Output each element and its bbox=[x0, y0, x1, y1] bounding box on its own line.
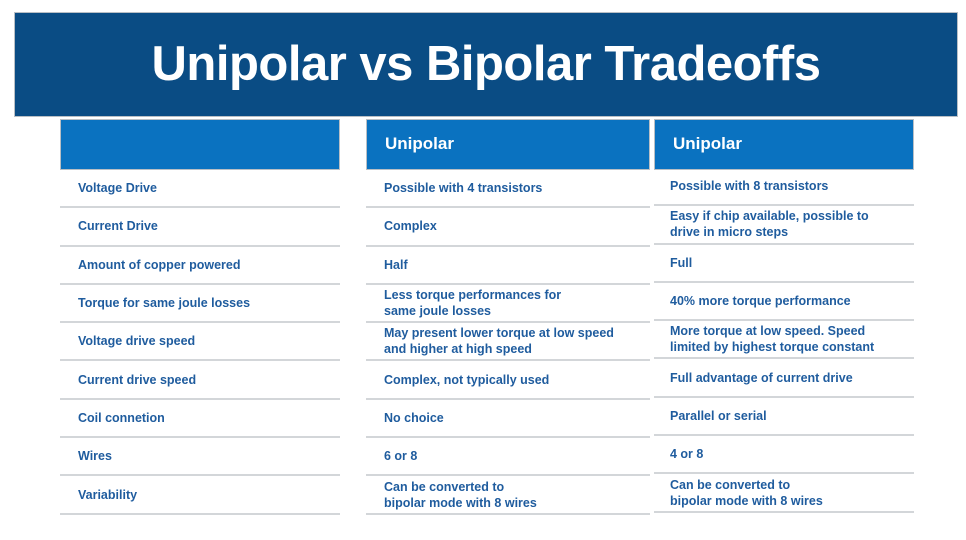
table-row: Voltage Drive bbox=[60, 170, 340, 208]
table-column-unipolar-1: Unipolar Possible with 4 transistors Com… bbox=[366, 119, 650, 515]
slide-title-banner: Unipolar vs Bipolar Tradeoffs bbox=[14, 12, 958, 117]
table-row: 4 or 8 bbox=[654, 436, 914, 474]
cell-text: Can be converted to bipolar mode with 8 … bbox=[382, 479, 537, 511]
cell-text: Current Drive bbox=[76, 218, 158, 234]
cell-text: Less torque performances for same joule … bbox=[382, 287, 561, 319]
table-row: Complex bbox=[366, 208, 650, 246]
table-row: Torque for same joule losses bbox=[60, 285, 340, 323]
column-header-label: Unipolar bbox=[673, 135, 742, 154]
cell-text: No choice bbox=[382, 410, 444, 426]
cell-text: 40% more torque performance bbox=[670, 293, 851, 309]
cell-text: Full advantage of current drive bbox=[670, 370, 853, 386]
table-row: Variability bbox=[60, 476, 340, 514]
cell-text: Parallel or serial bbox=[670, 408, 767, 424]
cell-text: Torque for same joule losses bbox=[76, 295, 250, 311]
table-row: Parallel or serial bbox=[654, 398, 914, 436]
table-row: Complex, not typically used bbox=[366, 361, 650, 399]
table-column-unipolar-2: Unipolar Possible with 8 transistors Eas… bbox=[654, 119, 914, 513]
table-row: Current Drive bbox=[60, 208, 340, 246]
cell-text: Possible with 8 transistors bbox=[670, 178, 828, 194]
table-row: 6 or 8 bbox=[366, 438, 650, 476]
cell-text: 6 or 8 bbox=[382, 448, 417, 464]
cell-text: Wires bbox=[76, 448, 112, 464]
cell-text: Can be converted to bipolar mode with 8 … bbox=[670, 477, 823, 509]
column-rows-unipolar-2: Possible with 8 transistors Easy if chip… bbox=[654, 168, 914, 513]
table-row: Less torque performances for same joule … bbox=[366, 285, 650, 323]
cell-text: More torque at low speed. Speed limited … bbox=[670, 323, 874, 355]
cell-text: 4 or 8 bbox=[670, 446, 703, 462]
column-header-unipolar-2: Unipolar bbox=[654, 119, 914, 170]
column-header-criteria bbox=[60, 119, 340, 170]
table-row: Coil connetion bbox=[60, 400, 340, 438]
cell-text: Amount of copper powered bbox=[76, 257, 241, 273]
table-row: Current drive speed bbox=[60, 361, 340, 399]
cell-text: Easy if chip available, possible to driv… bbox=[670, 208, 869, 240]
cell-text: Complex bbox=[382, 218, 437, 234]
column-rows-unipolar-1: Possible with 4 transistors Complex Half… bbox=[366, 170, 650, 515]
table-row: Possible with 4 transistors bbox=[366, 170, 650, 208]
table-row: Can be converted to bipolar mode with 8 … bbox=[366, 476, 650, 514]
column-header-unipolar-1: Unipolar bbox=[366, 119, 650, 170]
table-column-criteria: Voltage Drive Current Drive Amount of co… bbox=[60, 119, 340, 515]
table-row: Full advantage of current drive bbox=[654, 359, 914, 397]
page-title: Unipolar vs Bipolar Tradeoffs bbox=[152, 40, 821, 89]
cell-text: Variability bbox=[76, 487, 137, 503]
column-header-label: Unipolar bbox=[385, 135, 454, 154]
cell-text: Possible with 4 transistors bbox=[382, 180, 542, 196]
table-row: Possible with 8 transistors bbox=[654, 168, 914, 206]
cell-text: Full bbox=[670, 255, 692, 271]
table-row: Full bbox=[654, 245, 914, 283]
table-row: 40% more torque performance bbox=[654, 283, 914, 321]
table-row: Can be converted to bipolar mode with 8 … bbox=[654, 474, 914, 512]
table-row: No choice bbox=[366, 400, 650, 438]
comparison-table: Voltage Drive Current Drive Amount of co… bbox=[0, 119, 966, 540]
cell-text: May present lower torque at low speed an… bbox=[382, 325, 614, 357]
table-row: Wires bbox=[60, 438, 340, 476]
cell-text: Complex, not typically used bbox=[382, 372, 549, 388]
table-row: Amount of copper powered bbox=[60, 247, 340, 285]
table-row: Half bbox=[366, 247, 650, 285]
cell-text: Coil connetion bbox=[76, 410, 165, 426]
cell-text: Half bbox=[382, 257, 408, 273]
cell-text: Voltage drive speed bbox=[76, 333, 195, 349]
table-row: More torque at low speed. Speed limited … bbox=[654, 321, 914, 359]
cell-text: Voltage Drive bbox=[76, 180, 157, 196]
column-rows-criteria: Voltage Drive Current Drive Amount of co… bbox=[60, 170, 340, 515]
table-row: Voltage drive speed bbox=[60, 323, 340, 361]
table-row: Easy if chip available, possible to driv… bbox=[654, 206, 914, 244]
cell-text: Current drive speed bbox=[76, 372, 196, 388]
table-row: May present lower torque at low speed an… bbox=[366, 323, 650, 361]
